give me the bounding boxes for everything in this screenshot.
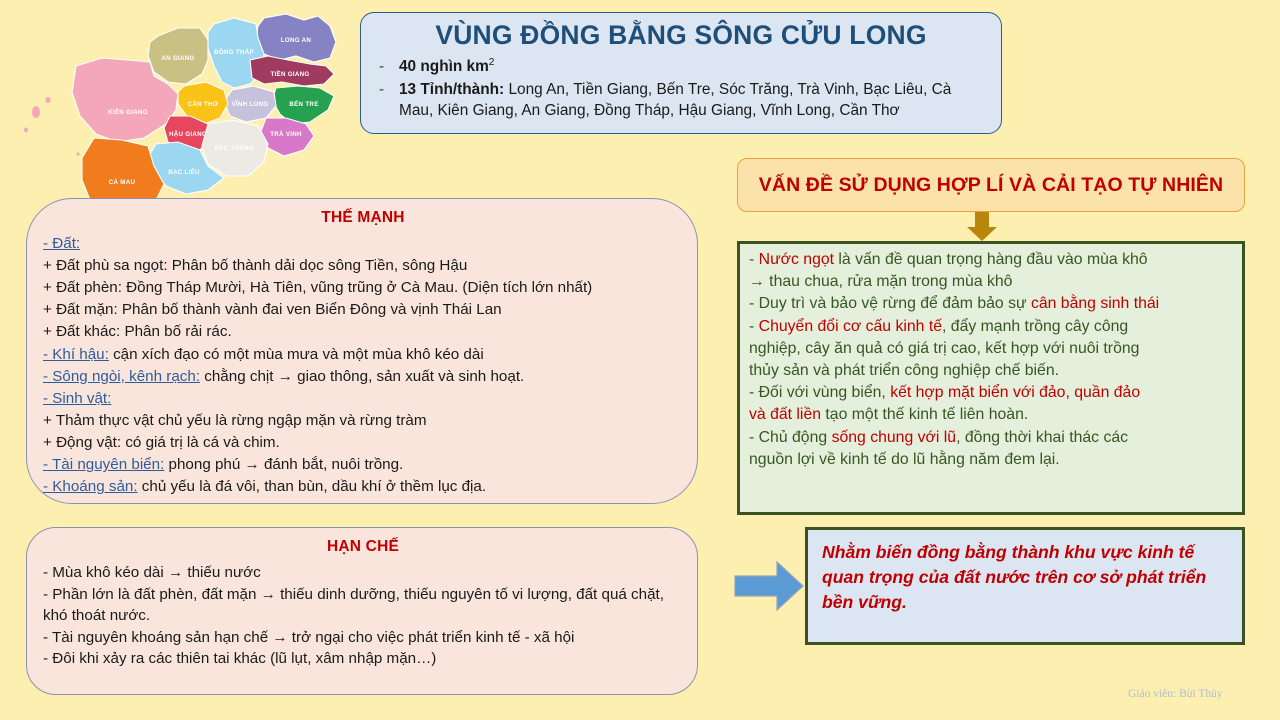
item-text: + Thảm thực vật chủ yếu là rừng ngập mặn… [43,412,427,429]
conclusion-box: Nhằm biến đồng bằng thành khu vực kinh t… [805,527,1245,645]
bullet-text: 40 nghìn km2 [399,56,987,77]
area-value: 40 nghìn km [399,58,489,75]
strengths-panel: THẾ MẠNH - Đất: + Đất phù sa ngọt: Phân … [26,198,698,504]
seg-highlight: kết hợp mặt biển với đảo, quần đảo [890,384,1140,401]
conclusion-text: Nhằm biến đồng bằng thành khu vực kinh t… [822,540,1230,615]
province-label: TIỀN GIANG [270,71,309,78]
item-text: cận xích đạo có một mùa mưa và một mùa k… [109,346,484,363]
solution-line: → thau chua, rửa mặn trong mùa khô [749,271,1234,293]
item-text: + Đất phù sa ngọt: Phân bố thành dải dọc… [43,257,467,274]
limitations-heading: HẠN CHẾ [43,538,683,556]
issue-header-box: VẤN ĐỀ SỬ DỤNG HỢP LÍ VÀ CẢI TẠO TỰ NHIÊ… [737,158,1245,212]
province-label: BẠC LIÊU [168,168,200,176]
item-text: chủ yếu là đá vôi, than bùn, dầu khí ở t… [138,478,487,495]
item-label: - Tài nguyên biển: [43,456,164,473]
item-label: - Sinh vật: [43,390,111,407]
strengths-list: - Đất: + Đất phù sa ngọt: Phân bố thành … [43,233,683,498]
seg-highlight: Nước ngọt [759,251,834,268]
seg: - Chủ động [749,429,832,446]
down-arrow-icon [963,212,1001,242]
list-item: - Tài nguyên khoáng sản hạn chế → trở ng… [43,627,683,649]
infographic-canvas: LONG AN ĐỒNG THÁP AN GIANG TIỀN GIANG BẾ… [0,0,1280,720]
seg-highlight: và đất liền [749,406,821,423]
bullet-text: 13 Tỉnh/thành: Long An, Tiền Giang, Bến … [399,79,987,122]
seg: - [749,318,759,335]
list-item: - Đất: [43,233,683,255]
province-label: SÓC TRĂNG [214,144,254,152]
solutions-box: - Nước ngọt là vấn đề quan trọng hàng đầ… [737,241,1245,515]
seg: - Duy trì và bảo vệ rừng để đảm bảo sự [749,295,1031,312]
item-label: - Đất: [43,235,80,252]
limitations-list: - Mùa khô kéo dài → thiếu nước - Phần lớ… [43,562,683,670]
province-label: BẾN TRE [289,101,318,108]
title-bullet-provinces: - 13 Tỉnh/thành: Long An, Tiền Giang, Bế… [375,79,987,122]
strengths-heading: THẾ MẠNH [43,209,683,227]
item-text: chằng chịt → giao thông, sản xuất và sin… [200,368,524,385]
item-text: + Đất phèn: Đồng Tháp Mười, Hà Tiên, vũn… [43,279,592,296]
seg-highlight: sống chung với lũ [832,429,957,446]
item-label: - Sông ngòi, kênh rạch: [43,368,200,385]
province-label: TRÀ VINH [270,131,302,138]
item-text: phong phú → đánh bắt, nuôi trồng. [164,456,403,473]
list-item: - Khoáng sản: chủ yếu là đá vôi, than bù… [43,476,683,498]
solution-line: - Duy trì và bảo vệ rừng để đảm bảo sự c… [749,293,1234,315]
mekong-delta-map: LONG AN ĐỒNG THÁP AN GIANG TIỀN GIANG BẾ… [18,4,348,224]
seg: → thau chua, rửa mặn trong mùa khô [749,273,1012,290]
bullet-dash: - [375,79,399,100]
list-item: - Phần lớn là đất phèn, đất mặn → thiếu … [43,584,683,627]
list-item: + Thảm thực vật chủ yếu là rừng ngập mặn… [43,410,683,432]
solution-line: nghiệp, cây ăn quả có giá trị cao, kết h… [749,338,1234,360]
page-title: VÙNG ĐỒNG BẰNG SÔNG CỬU LONG [375,21,987,50]
item-label: - Khí hậu: [43,346,109,363]
solution-line: - Chủ động sống chung với lũ, đồng thời … [749,427,1234,449]
seg: , đẩy mạnh trồng cây công [942,318,1128,335]
list-item: + Động vật: có giá trị là cá và chim. [43,432,683,454]
seg: nghiệp, cây ăn quả có giá trị cao, kết h… [749,340,1139,357]
solution-line: - Đối với vùng biển, kết hợp mặt biển vớ… [749,382,1234,404]
limitations-panel: HẠN CHẾ - Mùa khô kéo dài → thiếu nước -… [26,527,698,695]
seg-highlight: Chuyển đổi cơ cấu kinh tế [759,318,942,335]
province-label: ĐỒNG THÁP [214,49,254,56]
issue-heading: VẤN ĐỀ SỬ DỤNG HỢP LÍ VÀ CẢI TẠO TỰ NHIÊ… [759,174,1223,197]
teacher-credit: Giáo viên: Bùi Thủy [1128,688,1223,700]
list-item: + Đất phèn: Đồng Tháp Mười, Hà Tiên, vũn… [43,277,683,299]
solution-line: - Chuyển đổi cơ cấu kinh tế, đẩy mạnh tr… [749,316,1234,338]
seg: là vấn đề quan trọng hàng đầu vào mùa kh… [834,251,1148,268]
list-item: - Đôi khi xảy ra các thiên tai khác (lũ … [43,648,683,670]
list-item: + Đất mặn: Phân bố thành vành đai ven Bi… [43,299,683,321]
list-item: - Tài nguyên biển: phong phú → đánh bắt,… [43,454,683,476]
list-item: + Đất phù sa ngọt: Phân bố thành dải dọc… [43,255,683,277]
item-label: - Khoáng sản: [43,478,138,495]
province-count-label: 13 Tỉnh/thành: [399,81,504,98]
down-arrow-svg [963,212,1001,242]
seg: nguồn lợi về kinh tế do lũ hằng năm đem … [749,451,1060,468]
province-label: KIÊN GIANG [108,108,148,116]
seg: tạo một thế kinh tế liên hoàn. [821,406,1028,423]
seg-highlight: cân bằng sinh thái [1031,295,1159,312]
province-label: VĨNH LONG [231,101,268,108]
solution-line: và đất liền tạo một thế kinh tế liên hoà… [749,404,1234,426]
list-item: + Đất khác: Phân bố rải rác. [43,321,683,343]
solution-line: thủy sản và phát triển công nghiệp chế b… [749,360,1234,382]
solution-line: - Nước ngọt là vấn đề quan trọng hàng đầ… [749,249,1234,271]
item-text: + Đất mặn: Phân bố thành vành đai ven Bi… [43,301,502,318]
right-arrow-icon [733,558,805,614]
bullet-dash: - [375,56,399,77]
area-unit-exponent: 2 [489,57,495,68]
title-bullet-area: - 40 nghìn km2 [375,56,987,77]
seg: , đồng thời khai thác các [956,429,1128,446]
seg: - Đối với vùng biển, [749,384,890,401]
right-arrow-svg [733,558,805,614]
item-text: + Đất khác: Phân bố rải rác. [43,323,232,340]
list-item: - Sông ngòi, kênh rạch: chằng chịt → gia… [43,366,683,388]
province-label: HẬU GIANG [169,131,207,138]
seg: thủy sản và phát triển công nghiệp chế b… [749,362,1059,379]
province-label: AN GIANG [161,55,194,62]
item-text: + Động vật: có giá trị là cá và chim. [43,434,280,451]
list-item: - Mùa khô kéo dài → thiếu nước [43,562,683,584]
map-svg: LONG AN ĐỒNG THÁP AN GIANG TIỀN GIANG BẾ… [18,4,348,224]
list-item: - Sinh vật: [43,388,683,410]
seg: - [749,251,759,268]
solution-line: nguồn lợi về kinh tế do lũ hằng năm đem … [749,449,1234,471]
province-label: CẦN THƠ [188,101,219,108]
region-title-box: VÙNG ĐỒNG BẰNG SÔNG CỬU LONG - 40 nghìn … [360,12,1002,134]
list-item: - Khí hậu: cận xích đạo có một mùa mưa v… [43,344,683,366]
province-label: LONG AN [281,37,312,44]
province-label: CÀ MAU [109,179,136,186]
